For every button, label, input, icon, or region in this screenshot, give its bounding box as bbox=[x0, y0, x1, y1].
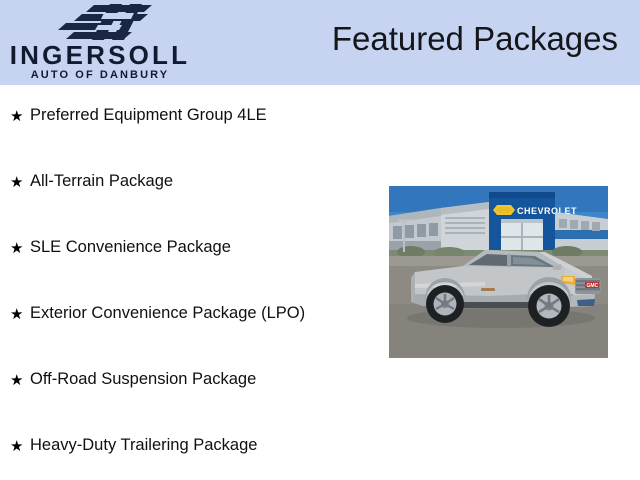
list-item-label: Exterior Convenience Package (LPO) bbox=[30, 304, 305, 324]
star-bullet-icon: ★ bbox=[10, 307, 30, 322]
list-item: ★ Exterior Convenience Package (LPO) bbox=[10, 302, 305, 326]
svg-text:GMC: GMC bbox=[587, 283, 599, 289]
star-bullet-icon: ★ bbox=[10, 175, 30, 190]
page-header: INGERSOLL AUTO OF DANBURY Featured Packa… bbox=[0, 0, 640, 85]
list-item-label: Preferred Equipment Group 4LE bbox=[30, 106, 267, 126]
star-bullet-icon: ★ bbox=[10, 241, 30, 256]
list-item-label: Heavy-Duty Trailering Package bbox=[30, 436, 257, 456]
list-item-label: All-Terrain Package bbox=[30, 172, 173, 192]
list-item: ★ Preferred Equipment Group 4LE bbox=[10, 104, 267, 128]
dealership-logo: INGERSOLL AUTO OF DANBURY bbox=[0, 0, 210, 85]
brand-name: INGERSOLL bbox=[0, 42, 200, 68]
list-item: ★ Heavy-Duty Trailering Package bbox=[10, 434, 257, 458]
list-item: ★ All-Terrain Package bbox=[10, 170, 173, 194]
list-item: ★ Off-Road Suspension Package bbox=[10, 368, 256, 392]
star-bullet-icon: ★ bbox=[10, 439, 30, 454]
list-item-label: Off-Road Suspension Package bbox=[30, 370, 256, 390]
list-item: ★ SLE Convenience Package bbox=[10, 236, 231, 260]
page-title: Featured Packages bbox=[332, 21, 618, 57]
ingersoll-wing-emblem-icon bbox=[48, 3, 166, 41]
featured-packages-list: ★ Preferred Equipment Group 4LE ★ All-Te… bbox=[0, 85, 380, 480]
list-item-label: SLE Convenience Package bbox=[30, 238, 231, 258]
brand-subtitle: AUTO OF DANBURY bbox=[0, 70, 200, 81]
vehicle-photo: CHEVROLET bbox=[389, 186, 608, 358]
star-bullet-icon: ★ bbox=[10, 373, 30, 388]
star-bullet-icon: ★ bbox=[10, 109, 30, 124]
